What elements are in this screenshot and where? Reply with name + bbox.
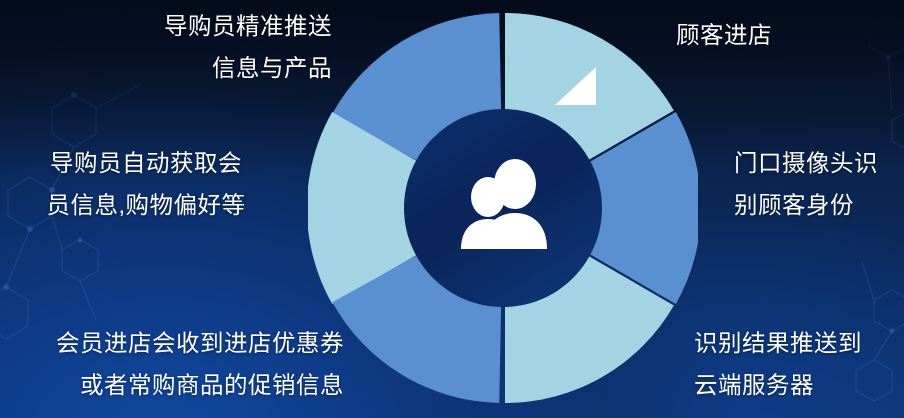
label-guide-pushes: 导购员精准推送 信息与产品 <box>0 5 332 89</box>
label-customer-enters-line1: 顾客进店 <box>676 14 772 56</box>
label-member-coupon-line2: 或者常购商品的促销信息 <box>0 364 344 406</box>
label-guide-gets-info-line1: 导购员自动获取会 <box>0 142 292 184</box>
users-icon <box>443 153 563 263</box>
label-member-coupon: 会员进店会收到进店优惠券 或者常购商品的促销信息 <box>0 322 348 406</box>
label-push-to-cloud: 识别结果推送到 云端服务器 <box>694 322 862 406</box>
label-camera-recognizes-line1: 门口摄像头识 <box>734 142 878 184</box>
label-guide-pushes-line2: 信息与产品 <box>0 47 332 89</box>
label-guide-gets-info: 导购员自动获取会 员信息,购物偏好等 <box>0 142 292 226</box>
label-member-coupon-line1: 会员进店会收到进店优惠券 <box>0 322 344 364</box>
donut-cycle-diagram <box>308 13 698 403</box>
label-guide-pushes-line1: 导购员精准推送 <box>0 5 332 47</box>
label-push-to-cloud-line1: 识别结果推送到 <box>694 322 862 364</box>
label-camera-recognizes: 门口摄像头识 别顾客身份 <box>734 142 878 226</box>
label-push-to-cloud-line2: 云端服务器 <box>694 364 862 406</box>
label-guide-gets-info-line2: 员信息,购物偏好等 <box>0 184 292 226</box>
label-camera-recognizes-line2: 别顾客身份 <box>734 184 878 226</box>
slide-canvas: 导购员精准推送 信息与产品 导购员自动获取会 员信息,购物偏好等 会员进店会收到… <box>0 0 904 418</box>
label-customer-enters: 顾客进店 <box>676 14 772 56</box>
